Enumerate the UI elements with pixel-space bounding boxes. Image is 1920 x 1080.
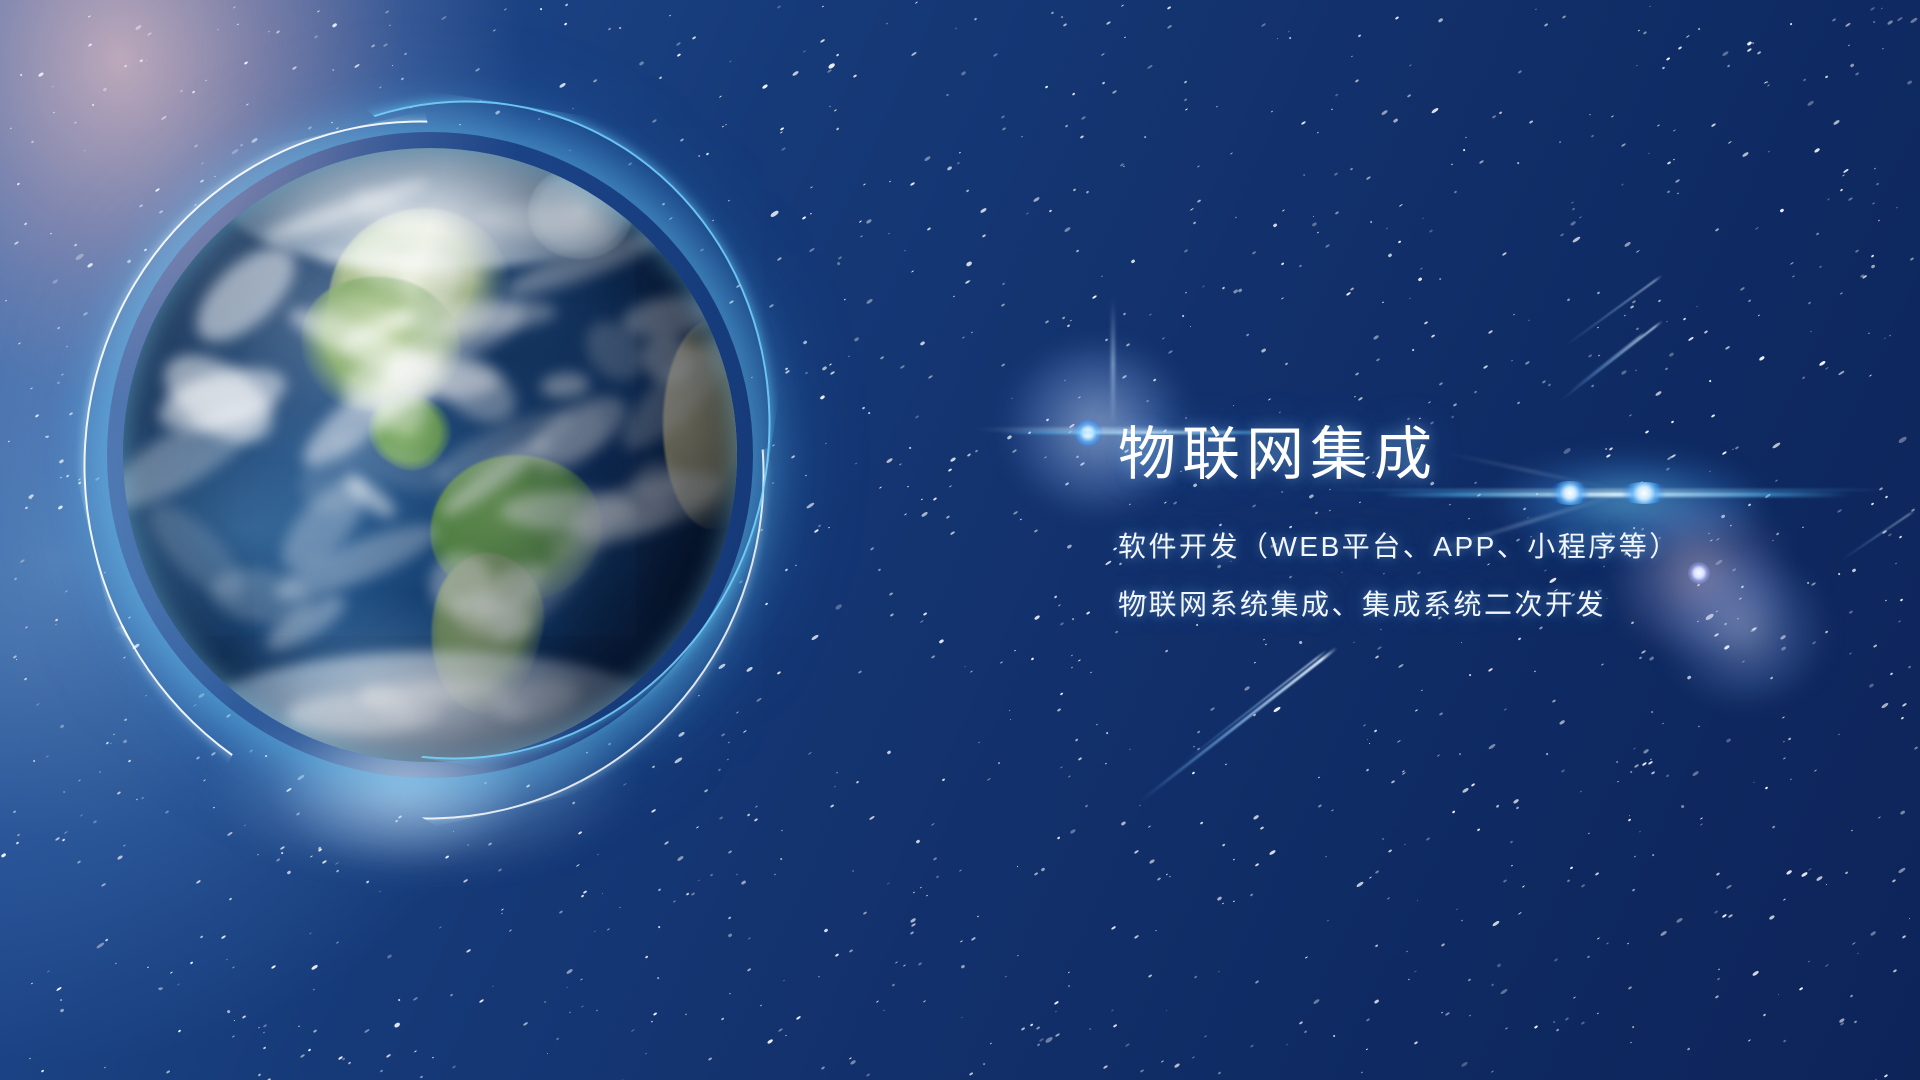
hero-subtitle-2: 物联网系统集成、集成系统二次开发 bbox=[1118, 591, 1818, 619]
rim-light bbox=[123, 148, 737, 762]
comet-streak-5 bbox=[1564, 275, 1662, 347]
hero-banner: 物联网集成 软件开发（WEB平台、APP、小程序等） 物联网系统集成、集成系统二… bbox=[0, 0, 1920, 1080]
hero-subtitle-1: 软件开发（WEB平台、APP、小程序等） bbox=[1118, 533, 1818, 561]
comet-streak-2 bbox=[1184, 649, 1327, 761]
comet-streak-6 bbox=[1839, 510, 1915, 562]
lens-flare-core-left bbox=[1073, 418, 1103, 448]
comet-streak-4 bbox=[1569, 332, 1645, 392]
lens-flare-spike-left-vertical bbox=[1112, 299, 1115, 429]
comet-streak-3 bbox=[1559, 320, 1663, 402]
page-title: 物联网集成 bbox=[1118, 424, 1818, 487]
earth-globe bbox=[123, 148, 737, 762]
hero-text-block: 物联网集成 软件开发（WEB平台、APP、小程序等） 物联网系统集成、集成系统二… bbox=[1118, 424, 1818, 619]
comet-streak-1 bbox=[1139, 646, 1338, 802]
globe-sphere bbox=[123, 148, 737, 762]
